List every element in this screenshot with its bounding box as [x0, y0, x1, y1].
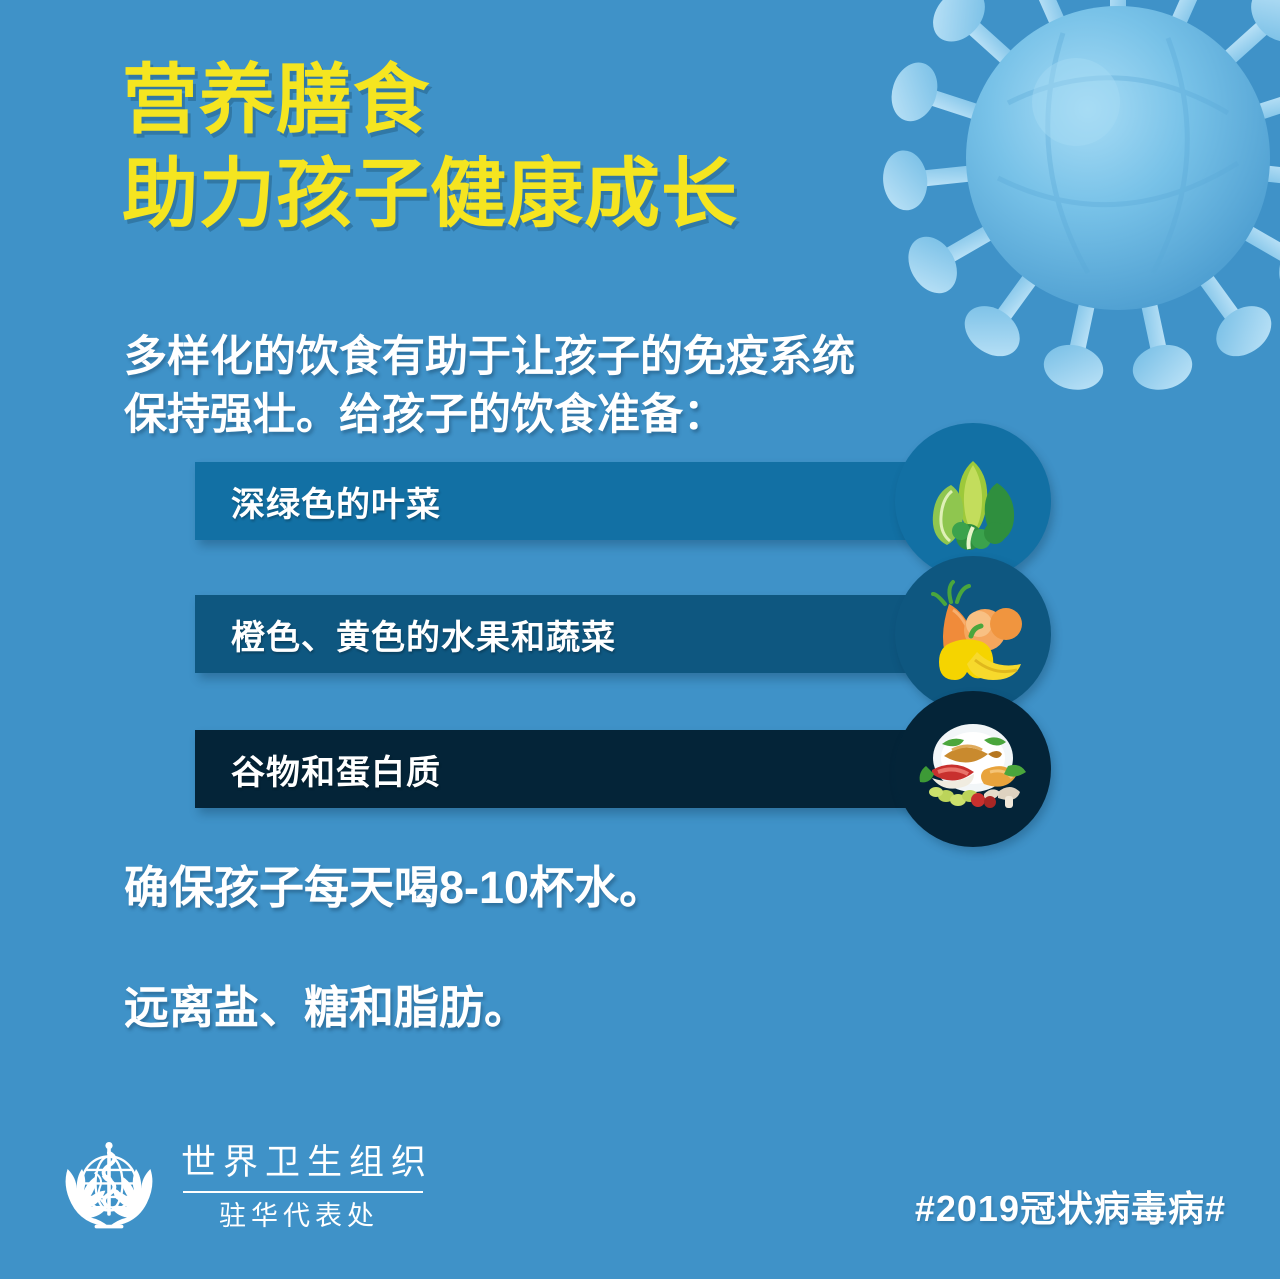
who-text-block: 世界卫生组织 驻华代表处: [181, 1141, 433, 1233]
intro-line-1: 多样化的饮食有助于让孩子的免疫系统: [124, 328, 1024, 386]
headline-line-2: 助力孩子健康成长: [122, 148, 982, 242]
who-divider: [183, 1191, 423, 1193]
intro-line-2: 保持强壮。给孩子的饮食准备：: [124, 386, 1024, 444]
food-group-bar: 橙色、黄色的水果和蔬菜: [195, 595, 985, 673]
campaign-hashtag: #2019冠状病毒病#: [915, 1180, 1226, 1232]
food-group-label: 深绿色的叶菜: [195, 477, 441, 526]
who-office-name: 驻华代表处: [181, 1199, 433, 1233]
headline: 营养膳食 助力孩子健康成长: [122, 54, 982, 242]
food-group-bar: 谷物和蛋白质: [195, 730, 985, 808]
food-group-row-orange-yellow: 橙色、黄色的水果和蔬菜: [195, 595, 1050, 673]
grains-protein-plate-icon: [895, 691, 1051, 847]
food-group-row-grains-protein: 谷物和蛋白质: [195, 730, 1050, 808]
who-emblem-icon: [55, 1133, 163, 1241]
who-organization-name: 世界卫生组织: [181, 1141, 433, 1185]
closing-line-water: 确保孩子每天喝8-10杯水。: [124, 858, 1024, 918]
food-group-label: 谷物和蛋白质: [195, 745, 441, 794]
food-group-bar: 深绿色的叶菜: [195, 462, 985, 540]
closing-line-avoid: 远离盐、糖和脂肪。: [124, 978, 1024, 1038]
intro-paragraph: 多样化的饮食有助于让孩子的免疫系统 保持强壮。给孩子的饮食准备：: [124, 328, 1024, 444]
headline-line-1: 营养膳食: [122, 54, 982, 148]
virus-body: [966, 6, 1270, 310]
orange-yellow-produce-icon: [895, 556, 1051, 712]
poster-canvas: 营养膳食 助力孩子健康成长 多样化的饮食有助于让孩子的免疫系统 保持强壮。给孩子…: [0, 0, 1280, 1279]
who-branding: 世界卫生组织 驻华代表处: [55, 1133, 433, 1241]
rod-of-asclepius: [104, 1142, 115, 1216]
closing-statements: 确保孩子每天喝8-10杯水。 远离盐、糖和脂肪。: [124, 858, 1024, 1038]
food-group-row-leafy-greens: 深绿色的叶菜: [195, 462, 1050, 540]
food-group-list: 深绿色的叶菜 橙色、黄色的水果和蔬菜: [0, 462, 1280, 862]
food-group-label: 橙色、黄色的水果和蔬菜: [195, 610, 616, 659]
